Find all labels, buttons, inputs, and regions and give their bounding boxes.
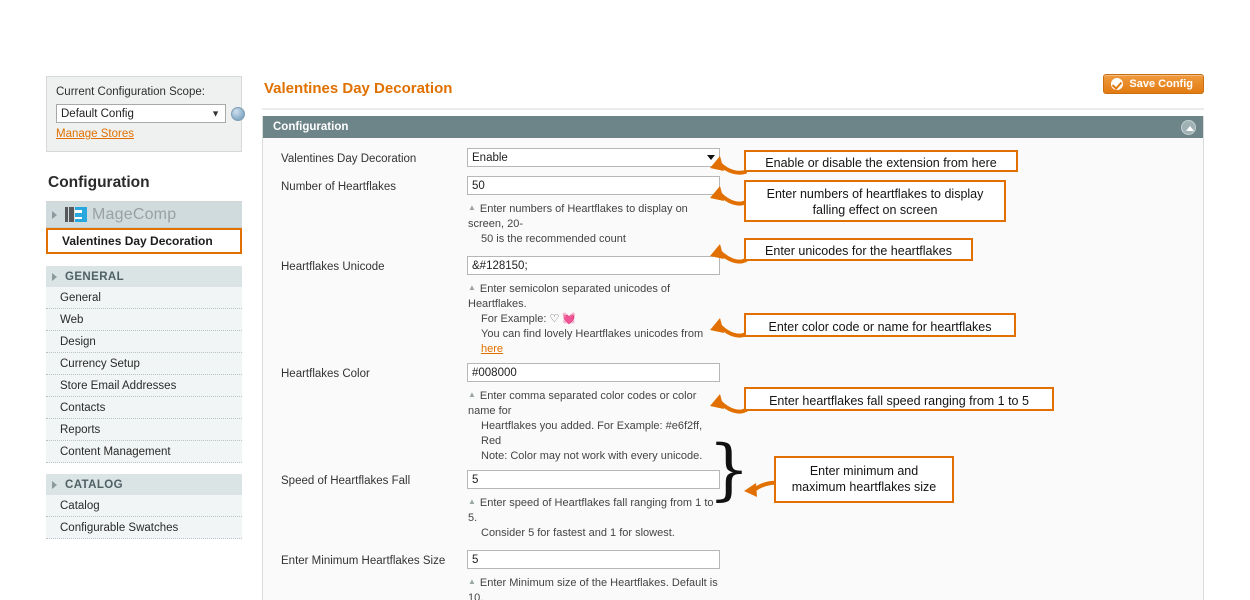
sidebar-item-general[interactable]: General <box>46 287 242 309</box>
heartflakes-unicode-link[interactable]: here <box>481 343 503 355</box>
select-value: Enable <box>472 152 508 164</box>
input-value: &#128150; <box>472 260 528 272</box>
field-minimum-heartflakes-size: Enter Minimum Heartflakes Size 5 ▲Enter … <box>263 550 1203 600</box>
sidebar: Current Configuration Scope: Default Con… <box>46 76 242 539</box>
triangle-right-icon <box>52 481 57 489</box>
configuration-panel-title: Configuration <box>273 121 348 133</box>
tip-triangle-icon: ▲ <box>468 203 476 212</box>
callout-number-of-heartflakes: Enter numbers of heartflakes to display … <box>744 180 1006 222</box>
field-hint: ▲Enter semicolon separated unicodes of H… <box>467 280 720 357</box>
field-label: Number of Heartflakes <box>281 176 467 193</box>
input-value: 5 <box>472 554 478 566</box>
annotation-arrow-2 <box>690 176 750 210</box>
sidebar-item-label: Reports <box>60 424 100 436</box>
field-label: Valentines Day Decoration <box>281 148 467 165</box>
heartflakes-unicode-input[interactable]: &#128150; <box>467 256 720 275</box>
hint-line-with-link: You can find lovely Heartflakes unicodes… <box>468 327 720 357</box>
hint-line: Note: Color may not work with every unic… <box>468 449 720 464</box>
minimum-heartflakes-size-input[interactable]: 5 <box>467 550 720 569</box>
field-label: Heartflakes Unicode <box>281 256 467 273</box>
scope-row: Default Config ▼ <box>56 104 232 123</box>
magecomp-logo-label: MageComp <box>92 206 176 224</box>
configuration-scope-box: Current Configuration Scope: Default Con… <box>46 76 242 152</box>
field-hint: ▲Enter comma separated color codes or co… <box>467 387 720 464</box>
field-hint: ▲Enter Minimum size of the Heartflakes. … <box>467 574 720 600</box>
sidebar-item-configurable-swatches[interactable]: Configurable Swatches <box>46 517 242 539</box>
callout-enable-disable: Enable or disable the extension from her… <box>744 150 1018 172</box>
hint-line: Enter semicolon separated unicodes of He… <box>468 283 670 310</box>
chevron-down-icon: ▼ <box>211 109 220 118</box>
hint-line: Heartflakes you added. For Example: #e6f… <box>468 419 720 449</box>
number-of-heartflakes-input[interactable]: 50 <box>467 176 720 195</box>
tip-triangle-icon: ▲ <box>468 283 476 292</box>
sidebar-general-list: General Web Design Currency Setup Store … <box>46 287 242 463</box>
field-hint: ▲Enter numbers of Heartflakes to display… <box>467 200 720 247</box>
sidebar-item-valentines-day-decoration[interactable]: Valentines Day Decoration <box>46 228 242 254</box>
triangle-right-icon <box>52 273 57 281</box>
page-header: Valentines Day Decoration Save Config <box>262 74 1204 110</box>
sidebar-item-label: Store Email Addresses <box>60 380 176 392</box>
sidebar-item-store-email-addresses[interactable]: Store Email Addresses <box>46 375 242 397</box>
hint-text: You can find lovely Heartflakes unicodes… <box>481 328 703 340</box>
magecomp-logo-icon <box>65 207 87 222</box>
screenshot-root: Current Configuration Scope: Default Con… <box>0 0 1250 600</box>
input-value: 50 <box>472 180 485 192</box>
manage-stores-link[interactable]: Manage Stores <box>56 128 134 140</box>
hint-line: Consider 5 for fastest and 1 for slowest… <box>468 526 720 541</box>
field-control: 50 ▲Enter numbers of Heartflakes to disp… <box>467 176 720 247</box>
sidebar-item-design[interactable]: Design <box>46 331 242 353</box>
sidebar-item-contacts[interactable]: Contacts <box>46 397 242 419</box>
sidebar-item-currency-setup[interactable]: Currency Setup <box>46 353 242 375</box>
field-control: 5 ▲Enter speed of Heartflakes fall rangi… <box>467 470 720 541</box>
hint-line: Enter speed of Heartflakes fall ranging … <box>468 497 714 524</box>
field-label: Speed of Heartflakes Fall <box>281 470 467 487</box>
sidebar-item-label: Valentines Day Decoration <box>62 234 213 248</box>
sidebar-item-reports[interactable]: Reports <box>46 419 242 441</box>
sidebar-item-label: Contacts <box>60 402 105 414</box>
hint-line: Enter comma separated color codes or col… <box>468 390 696 417</box>
sidebar-item-label: Design <box>60 336 96 348</box>
save-config-label: Save Config <box>1129 78 1193 90</box>
sidebar-item-content-management[interactable]: Content Management <box>46 441 242 463</box>
sidebar-configuration-heading: Configuration <box>46 166 242 202</box>
scope-select[interactable]: Default Config ▼ <box>56 104 226 123</box>
hint-line: Enter numbers of Heartflakes to display … <box>468 203 688 230</box>
sidebar-item-label: Currency Setup <box>60 358 140 370</box>
sidebar-item-catalog[interactable]: Catalog <box>46 495 242 517</box>
tip-triangle-icon: ▲ <box>468 577 476 586</box>
annotation-arrow-3 <box>690 236 750 268</box>
sidebar-section-catalog[interactable]: CATALOG <box>46 473 242 495</box>
sidebar-item-label: Catalog <box>60 500 100 512</box>
input-value: 5 <box>472 474 478 486</box>
hint-line: For Example: ♡ 💓 <box>468 312 720 327</box>
sidebar-item-label: General <box>60 292 101 304</box>
tip-triangle-icon: ▲ <box>468 390 476 399</box>
sidebar-item-label: Configurable Swatches <box>60 522 178 534</box>
help-globe-icon[interactable] <box>231 107 245 121</box>
field-label: Enter Minimum Heartflakes Size <box>281 550 467 567</box>
callout-fall-speed: Enter heartflakes fall speed ranging fro… <box>744 387 1054 411</box>
field-control: &#128150; ▲Enter semicolon separated uni… <box>467 256 720 357</box>
annotation-arrow-4 <box>690 310 750 342</box>
triangle-right-icon <box>52 211 57 219</box>
sidebar-item-label: Content Management <box>60 446 171 458</box>
field-control: 5 ▲Enter Minimum size of the Heartflakes… <box>467 550 720 600</box>
sidebar-item-web[interactable]: Web <box>46 309 242 331</box>
hint-line: 50 is the recommended count <box>468 232 720 247</box>
callout-color-code: Enter color code or name for heartflakes <box>744 313 1016 337</box>
hint-line: Enter Minimum size of the Heartflakes. D… <box>468 577 718 600</box>
save-config-button[interactable]: Save Config <box>1103 74 1204 94</box>
tip-triangle-icon: ▲ <box>468 497 476 506</box>
sidebar-section-label: CATALOG <box>65 479 123 491</box>
callout-unicodes: Enter unicodes for the heartflakes <box>744 238 973 261</box>
check-circle-icon <box>1111 78 1123 90</box>
chevron-up-icon[interactable] <box>1181 120 1196 135</box>
sidebar-section-label: GENERAL <box>65 271 124 283</box>
sidebar-item-label: Web <box>60 314 83 326</box>
sidebar-section-magecomp[interactable]: MageComp <box>46 202 242 228</box>
sidebar-catalog-list: Catalog Configurable Swatches <box>46 495 242 539</box>
field-control: Enable <box>467 148 720 167</box>
speed-of-heartflakes-fall-input[interactable]: 5 <box>467 470 720 489</box>
heartflakes-color-input[interactable]: #008000 <box>467 363 720 382</box>
scope-label: Current Configuration Scope: <box>56 85 232 99</box>
page-title: Valentines Day Decoration <box>264 80 452 97</box>
sidebar-section-general[interactable]: GENERAL <box>46 265 242 287</box>
configuration-panel-header[interactable]: Configuration <box>263 116 1203 138</box>
callout-min-max-size: Enter minimum and maximum heartflakes si… <box>774 456 954 503</box>
valentines-day-decoration-select[interactable]: Enable <box>467 148 720 167</box>
annotation-arrow-5 <box>690 386 750 418</box>
field-control: #008000 ▲Enter comma separated color cod… <box>467 363 720 464</box>
field-label: Heartflakes Color <box>281 363 467 380</box>
field-hint: ▲Enter speed of Heartflakes fall ranging… <box>467 494 720 541</box>
scope-select-value: Default Config <box>61 108 134 120</box>
input-value: #008000 <box>472 367 517 379</box>
